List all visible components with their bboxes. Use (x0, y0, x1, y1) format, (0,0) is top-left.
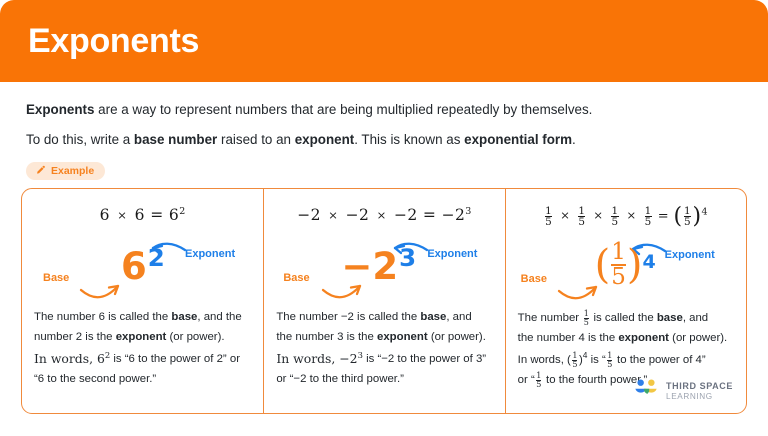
panel-1-description: The number 6 is called the base, and the… (33, 308, 252, 390)
panel-2-exponent-value: 3 (398, 243, 416, 272)
panel-3-diagram: ( 1 5 ) 4 Base Exponent (517, 233, 735, 309)
panel-2-desc-line-4: or “−2 to the third power.” (276, 370, 492, 390)
t: , and the (197, 311, 241, 323)
t: 1 (611, 241, 626, 264)
example-panel-1: 6 × 6 = 62 62 Base Exponent The (22, 189, 263, 413)
fraction-one-fifth: 15 (584, 310, 589, 327)
third-space-logo-icon (633, 379, 659, 405)
panel-2-desc-line-1: The number −2 is called the base, and (276, 308, 492, 328)
panel-3-exponent-label: Exponent (665, 249, 715, 261)
t: number 2 is the (34, 331, 116, 343)
t: or “ (518, 374, 535, 386)
panel-1-desc-line-4: “6 to the second power.” (34, 370, 251, 390)
t: In words, −2 (276, 351, 357, 366)
intro-line-1: Exponents are a way to represent numbers… (26, 100, 742, 119)
panel-1-exponent-label: Exponent (185, 248, 235, 260)
panel-3-desc-line-1: The number 15 is called the base, and (518, 309, 734, 329)
intro-section: Exponents are a way to represent numbers… (0, 82, 768, 181)
t: 1 (536, 372, 541, 380)
intro-line-2-e: . This is known as (354, 132, 464, 147)
t: 5 (578, 216, 585, 228)
panel-3-eq-exponent: 4 (702, 207, 708, 218)
example-panel-2: −2 × −2 × −2 = −23 −23 Base Exponent The… (263, 189, 504, 413)
page-title: Exponents (28, 22, 199, 61)
panel-1-equation: 6 × 6 = 62 (33, 206, 252, 224)
t: 5 (584, 318, 589, 327)
t: The number 6 is called the (34, 311, 171, 323)
panel-3-exponent-value: 4 (643, 251, 656, 273)
third-space-learning-logo: THIRD SPACE LEARNING (633, 379, 733, 405)
intro-line-2-c: raised to an (217, 132, 294, 147)
panel-2-exponent-label: Exponent (427, 248, 477, 260)
panel-2-base-value: −2 (341, 245, 398, 288)
panel-1-desc-line-2: number 2 is the exponent (or power). (34, 328, 251, 348)
fraction-one-fifth: 15 (572, 352, 577, 369)
t: , and (446, 311, 471, 323)
panel-3-base-fraction: ( 1 5 ) (595, 241, 643, 289)
panel-2-term-base: base (420, 311, 446, 323)
t: the number 4 is the (518, 332, 619, 344)
page-header: Exponents (0, 0, 768, 82)
t: 1 (607, 352, 612, 360)
panel-1-base-label: Base (43, 272, 69, 284)
panel-2-description: The number −2 is called the base, and th… (275, 308, 493, 390)
fraction-one-fifth: 15 (545, 206, 552, 228)
t: 5 (645, 216, 652, 228)
panel-1-base-value: 6 (121, 245, 147, 288)
panel-3-base-expression: ( 1 5 ) 4 (595, 241, 656, 289)
panel-1-base-expression: 62 (121, 245, 165, 288)
t: 5 (545, 216, 552, 228)
panel-2-desc-line-2: the number 3 is the exponent (or power). (276, 328, 492, 348)
intro-term-exponential-form: exponential form (464, 132, 572, 147)
panel-1-term-base: base (171, 311, 197, 323)
panel-1-desc-line-1: The number 6 is called the base, and the (34, 308, 251, 328)
panel-2-equation: −2 × −2 × −2 = −23 (275, 206, 493, 224)
t: 5 (572, 360, 577, 369)
t: 1 5 (610, 241, 627, 289)
t: The number −2 is called the (276, 311, 420, 323)
fraction-one-fifth: 15 (578, 206, 585, 228)
panel-3-equation: 15 × 15 × 15 × 15 = (15)4 (517, 204, 735, 229)
t: the number 3 is the (276, 331, 377, 343)
example-badge-label: Example (51, 165, 94, 177)
t: 1 (684, 206, 691, 217)
example-panel-3: 15 × 15 × 15 × 15 = (15)4 ( (505, 189, 746, 413)
examples-card: 6 × 6 = 62 62 Base Exponent The (21, 188, 747, 414)
intro-line-2-g: . (572, 132, 576, 147)
t: is “−2 to the power of 3” (363, 354, 486, 366)
panel-3-desc-line-2: the number 4 is the exponent (or power). (518, 329, 734, 349)
panel-1-term-exponent: exponent (116, 331, 167, 343)
panel-2-base-label: Base (283, 272, 309, 284)
t: In words, −23 (276, 351, 363, 366)
intro-line-1-rest: are a way to represent numbers that are … (94, 102, 592, 117)
panel-3-term-exponent: exponent (618, 332, 669, 344)
fraction-one-fifth: 15 (684, 206, 691, 228)
t: 5 (611, 264, 626, 289)
t: 1 (611, 206, 618, 217)
lesson-page: Exponents Exponents are a way to represe… (0, 0, 768, 436)
t: 1 (572, 352, 577, 360)
panel-1-diagram: 62 Base Exponent (33, 228, 252, 308)
panel-2-desc-line-3: In words, −23 is “−2 to the power of 3” (276, 347, 492, 370)
intro-line-2-a: To do this, write a (26, 132, 134, 147)
intro-term-exponents: Exponents (26, 102, 94, 117)
t: is “ (587, 354, 605, 366)
close-paren: ) (627, 242, 643, 288)
t: 5 (536, 380, 541, 389)
t: is “6 to the power of 2” or (110, 354, 240, 366)
intro-term-base-number: base number (134, 132, 217, 147)
panel-2-base-expression: −23 (341, 245, 416, 288)
fraction-one-fifth: 15 (611, 206, 618, 228)
panel-2-term-exponent: exponent (377, 331, 428, 343)
open-paren: ( (595, 242, 611, 288)
t: 5 (611, 216, 618, 228)
t: 5 (684, 216, 691, 228)
t: to the fourth power.” (543, 374, 647, 386)
logo-line-2: LEARNING (666, 393, 733, 401)
fraction-one-fifth: 15 (645, 206, 652, 228)
t: , and (683, 312, 708, 324)
panel-3-desc-line-3: In words, (15)4 is “15 to the power of 4… (518, 348, 734, 370)
logo-line-1: THIRD SPACE (666, 382, 733, 391)
panel-3-base-label: Base (521, 273, 547, 285)
t: 1 (584, 310, 589, 318)
pencil-icon (35, 165, 46, 176)
t: 5 (607, 360, 612, 369)
panel-3-term-base: base (657, 312, 683, 324)
fraction-one-fifth: 15 (607, 352, 612, 369)
t: (or power). (428, 331, 486, 343)
t: In words, ( (518, 354, 571, 366)
panel-1-desc-line-3: In words, 62 is “6 to the power of 2” or (34, 347, 251, 370)
panel-2-diagram: −23 Base Exponent (275, 228, 493, 308)
example-badge: Example (26, 162, 105, 180)
t: (or power). (166, 331, 224, 343)
t: The number (518, 312, 583, 324)
t: 1 (545, 206, 552, 217)
t: to the power of 4” (614, 354, 706, 366)
intro-line-2: To do this, write a base number raised t… (26, 130, 742, 149)
panel-1-exponent-value: 2 (147, 243, 165, 272)
fraction-one-fifth: 15 (536, 372, 541, 389)
t: In words, 6 (34, 351, 105, 366)
t: is called the (590, 312, 656, 324)
t: (or power). (669, 332, 727, 344)
t: 1 (578, 206, 585, 217)
intro-term-exponent: exponent (295, 132, 355, 147)
t: 1 (645, 206, 652, 217)
logo-wordmark: THIRD SPACE LEARNING (666, 382, 733, 401)
t: In words, 62 (34, 351, 110, 366)
